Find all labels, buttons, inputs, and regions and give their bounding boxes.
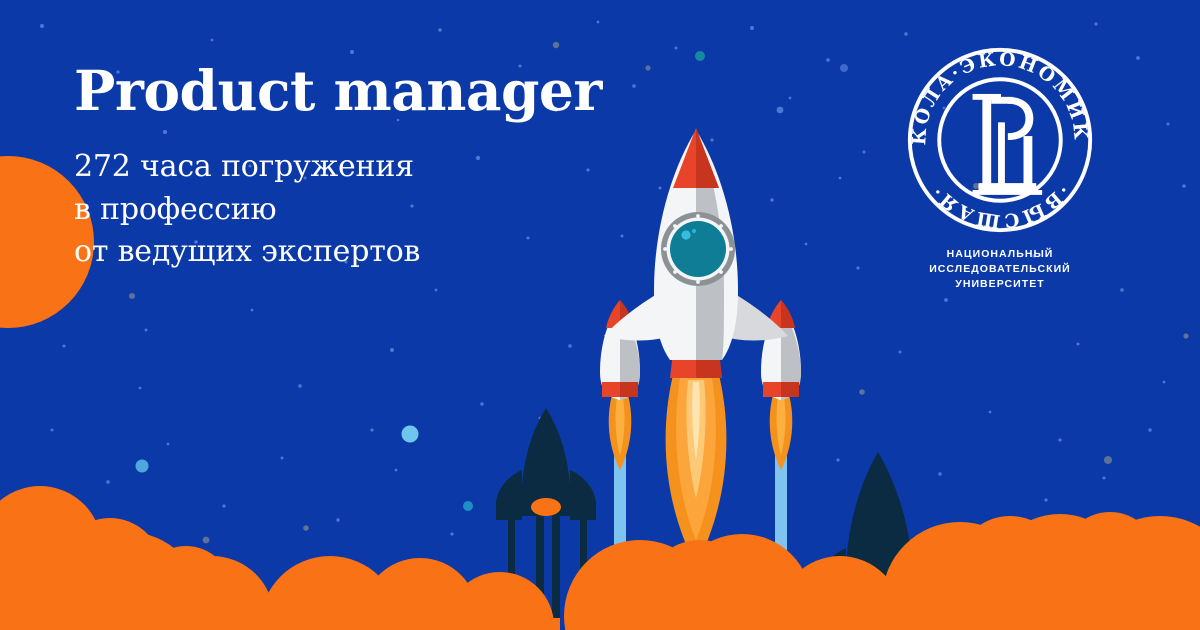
poster-canvas: Product manager 272 часа погружения в пр… bbox=[0, 0, 1200, 630]
subtitle-line-1: 272 часа погружения bbox=[74, 146, 634, 189]
hse-caption-line-1: НАЦИОНАЛЬНЫЙ ИССЛЕДОВАТЕЛЬСКИЙ bbox=[878, 247, 1122, 277]
cloud-bank-left bbox=[0, 486, 280, 630]
cloud-bank-main bbox=[564, 534, 902, 630]
hse-ring-text-top: ШКОЛА·ЭКОНОМИКИ· bbox=[902, 42, 1091, 146]
hse-logo-block: ШКОЛА·ЭКОНОМИКИ· ·ВЫСШАЯ· bbox=[878, 42, 1122, 293]
subtitle: 272 часа погружения в профессию от ведущ… bbox=[74, 146, 634, 274]
subtitle-line-3: от ведущих экспертов bbox=[74, 231, 634, 274]
hse-caption-line-2: УНИВЕРСИТЕТ bbox=[878, 277, 1122, 292]
hse-logo-caption: НАЦИОНАЛЬНЫЙ ИССЛЕДОВАТЕЛЬСКИЙ УНИВЕРСИТ… bbox=[878, 247, 1122, 293]
hse-monogram bbox=[973, 94, 1043, 195]
hse-logo-icon: ШКОЛА·ЭКОНОМИКИ· ·ВЫСШАЯ· bbox=[902, 42, 1098, 238]
cloud-bank-right bbox=[882, 512, 1200, 630]
subtitle-line-2: в профессию bbox=[74, 189, 634, 232]
headline-block: Product manager 272 часа погружения в пр… bbox=[74, 62, 634, 274]
cloud-bank-center bbox=[260, 556, 560, 630]
page-title: Product manager bbox=[74, 62, 634, 120]
